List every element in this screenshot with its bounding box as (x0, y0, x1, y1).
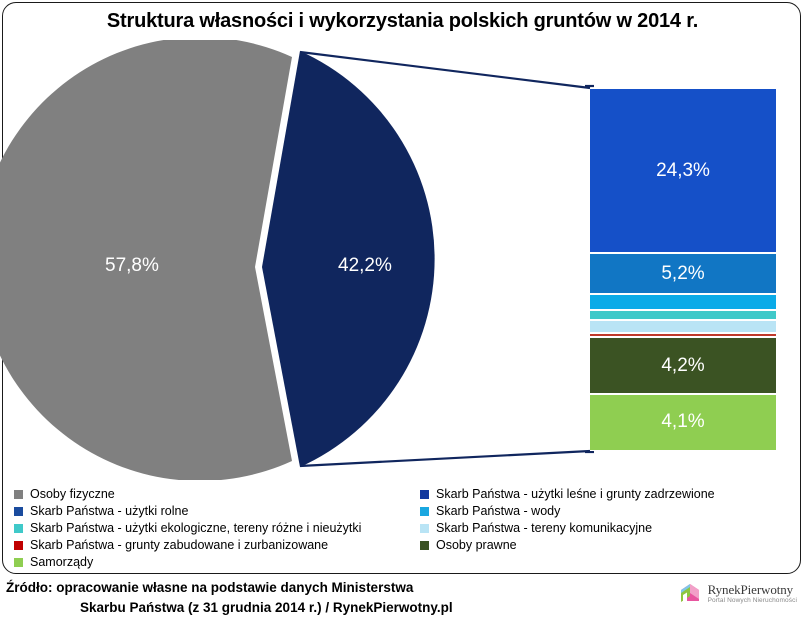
legend-item[interactable]: Skarb Państwa - użytki leśne i grunty za… (420, 486, 800, 503)
page-title: Struktura własności i wykorzystania pols… (0, 10, 805, 33)
pie-label-skarb-panstwa: 42,2% (338, 255, 392, 277)
legend-label: Samorządy (30, 554, 93, 571)
legend-label: Osoby prawne (436, 537, 517, 554)
bar-segment-label-7: 4,1% (661, 411, 704, 433)
legend-label: Skarb Państwa - użytki ekologiczne, tere… (30, 520, 361, 537)
legend-item[interactable]: Samorządy (14, 554, 414, 571)
legend-swatch-icon (14, 558, 23, 567)
source-note: Źródło: opracowanie własne na podstawie … (6, 578, 453, 618)
source-line-1: Źródło: opracowanie własne na podstawie … (6, 578, 453, 598)
pie-label-osoby-fizyczne: 57,8% (105, 255, 159, 277)
bar-segment-7: 4,1% (590, 394, 776, 451)
stacked-bar-chart: 24,3%5,2%4,2%4,1% (590, 88, 776, 451)
bar-segment-label-0: 24,3% (656, 160, 710, 182)
legend-swatch-icon (14, 507, 23, 516)
chart-page: Struktura własności i wykorzystania pols… (0, 0, 805, 620)
bar-segment-1: 5,2% (590, 253, 776, 294)
bar-segment-label-6: 4,2% (661, 355, 704, 377)
legend-column-left: Osoby fizyczneSkarb Państwa - użytki rol… (14, 486, 414, 571)
legend-label: Skarb Państwa - wody (436, 503, 560, 520)
legend-swatch-icon (420, 541, 429, 550)
legend-item[interactable]: Skarb Państwa - grunty zabudowane i zurb… (14, 537, 414, 554)
legend: Osoby fizyczneSkarb Państwa - użytki rol… (14, 486, 794, 570)
legend-label: Skarb Państwa - tereny komunikacyjne (436, 520, 652, 537)
connector-line-bottom (300, 451, 590, 466)
legend-label: Osoby fizyczne (30, 486, 115, 503)
brand-logo: RynekPierwotny Portal Nowych Nieruchomoś… (677, 582, 797, 606)
legend-swatch-icon (14, 524, 23, 533)
legend-swatch-icon (420, 490, 429, 499)
legend-item[interactable]: Skarb Państwa - wody (420, 503, 800, 520)
bar-segment-label-1: 5,2% (661, 263, 704, 285)
bar-segment-4 (590, 320, 776, 333)
house-cube-logo-icon (677, 582, 703, 606)
bar-segment-3 (590, 310, 776, 320)
plot-area: 57,8% 42,2% 24,3%5,2%4,2%4,1% (0, 40, 805, 480)
legend-item[interactable]: Skarb Państwa - użytki rolne (14, 503, 414, 520)
legend-swatch-icon (420, 507, 429, 516)
legend-column-right: Skarb Państwa - użytki leśne i grunty za… (420, 486, 800, 554)
logo-tagline: Portal Nowych Nieruchomości (708, 598, 797, 605)
source-line-2: Skarbu Państwa (z 31 grudnia 2014 r.) / … (6, 598, 453, 618)
logo-name: RynekPierwotny (708, 583, 797, 596)
legend-swatch-icon (14, 541, 23, 550)
legend-item[interactable]: Skarb Państwa - użytki ekologiczne, tere… (14, 520, 414, 537)
legend-label: Skarb Państwa - grunty zabudowane i zurb… (30, 537, 328, 554)
legend-swatch-icon (420, 524, 429, 533)
legend-label: Skarb Państwa - użytki rolne (30, 503, 188, 520)
footer: Źródło: opracowanie własne na podstawie … (0, 576, 805, 620)
legend-item[interactable]: Skarb Państwa - tereny komunikacyjne (420, 520, 800, 537)
legend-swatch-icon (14, 490, 23, 499)
bar-segment-0: 24,3% (590, 88, 776, 253)
bar-segment-6: 4,2% (590, 337, 776, 394)
logo-text: RynekPierwotny Portal Nowych Nieruchomoś… (708, 583, 797, 605)
bar-segment-2 (590, 294, 776, 310)
legend-item[interactable]: Osoby prawne (420, 537, 800, 554)
legend-label: Skarb Państwa - użytki leśne i grunty za… (436, 486, 715, 503)
legend-item[interactable]: Osoby fizyczne (14, 486, 414, 503)
